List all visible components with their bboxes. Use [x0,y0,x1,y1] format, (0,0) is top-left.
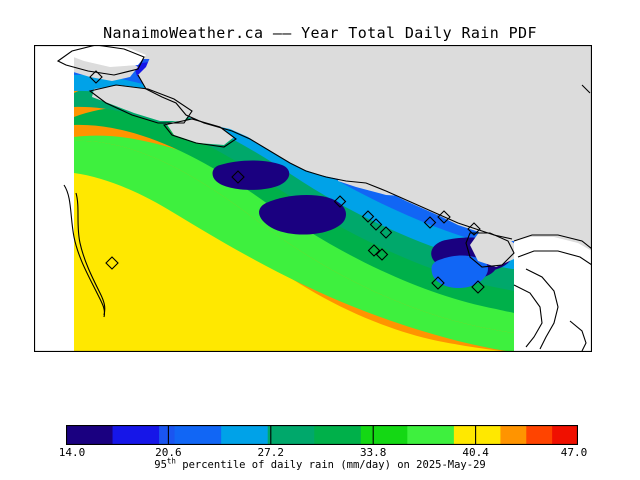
page-title: NanaimoWeather.ca —— Year Total Daily Ra… [0,24,640,42]
caption-prefix: 95 [154,459,167,471]
colorbar-band[interactable] [113,425,160,445]
colorbar-band-group[interactable] [66,425,578,445]
white-left-margin [34,45,74,352]
colorbar-tick-label: 27.2 [258,446,285,459]
colorbar-band[interactable] [361,425,408,445]
caption-superscript: th [167,457,176,466]
colorbar-band[interactable] [159,425,175,445]
colorbar-tick-labels: 14.020.627.233.840.447.0 [0,446,640,460]
colorbar-band[interactable] [175,425,222,445]
colorbar-tick-label: 33.8 [360,446,387,459]
colorbar-band[interactable] [314,425,361,445]
colorbar-swatches[interactable] [66,425,578,445]
map-plot-area[interactable] [34,45,592,352]
colorbar-band[interactable] [66,425,113,445]
colorbar-band[interactable] [552,425,578,445]
rain-contour-map[interactable] [34,45,592,352]
caption-suffix: percentile of daily rain (mm/day) on 202… [176,459,486,471]
colorbar-band[interactable] [221,425,268,445]
colorbar-band[interactable] [454,425,501,445]
colorbar-band[interactable] [407,425,454,445]
colorbar-band[interactable] [500,425,526,445]
colorbar-tick-label: 40.4 [462,446,489,459]
contour-pocket-nw-3 [213,161,290,190]
colorbar-caption: 95th percentile of daily rain (mm/day) o… [0,459,640,471]
colorbar-band[interactable] [268,425,315,445]
colorbar-tick-label: 14.0 [59,446,86,459]
colorbar[interactable] [66,425,578,445]
colorbar-band[interactable] [526,425,552,445]
colorbar-tick-label: 47.0 [561,446,588,459]
screenshot-root: NanaimoWeather.ca —— Year Total Daily Ra… [0,0,640,480]
